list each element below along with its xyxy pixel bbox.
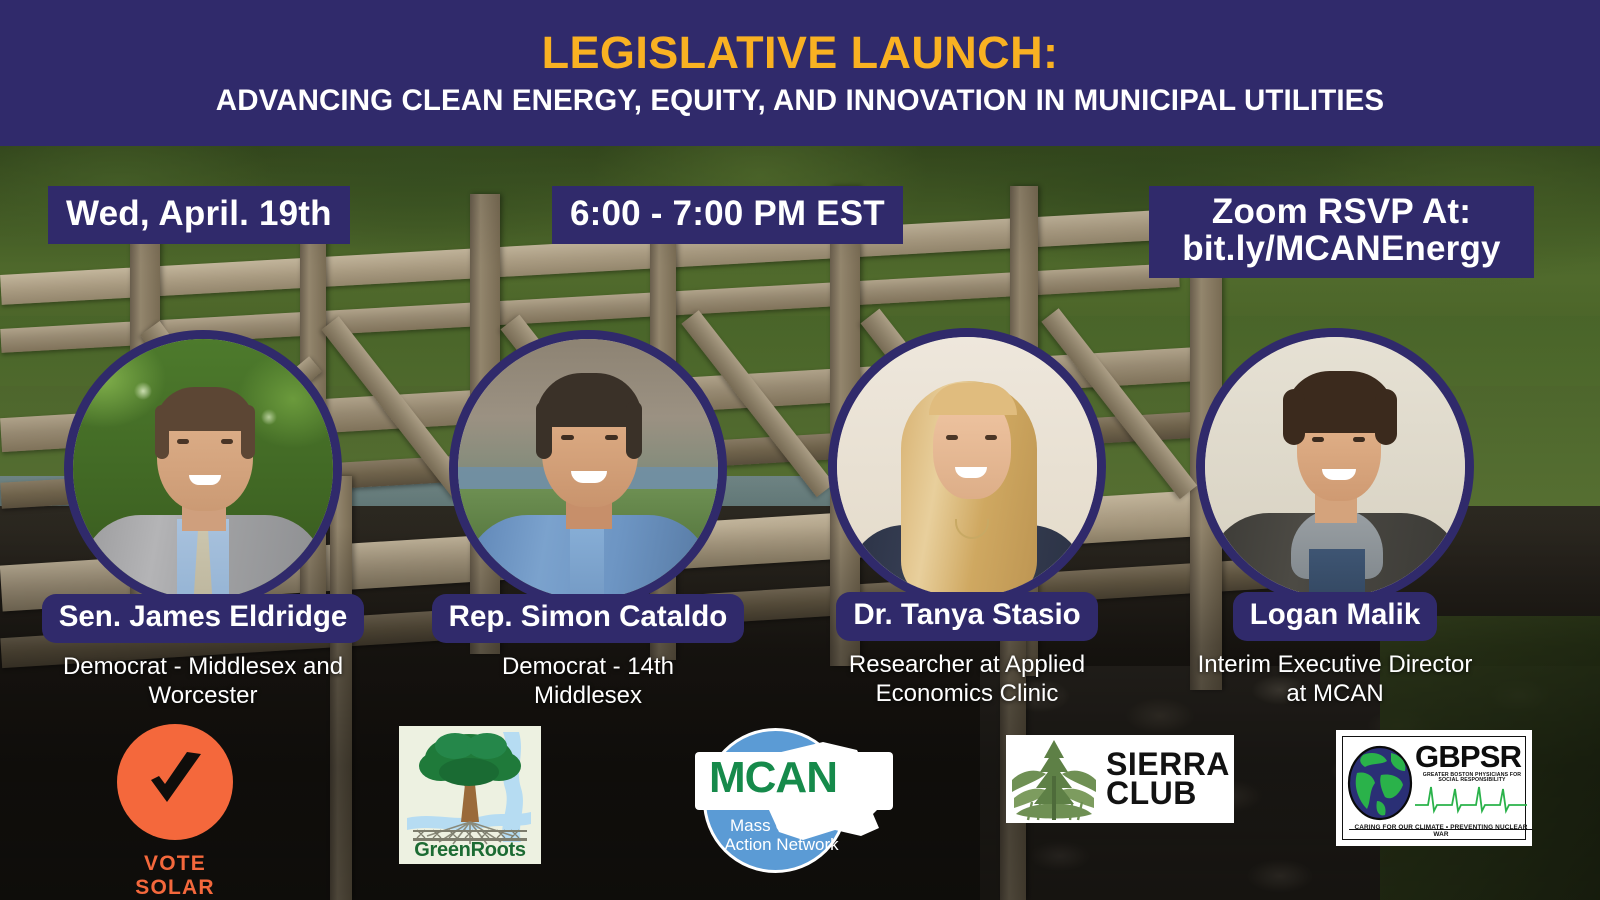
speaker-title: Interim Executive Director at MCAN [1135,650,1535,709]
speaker-name: Logan Malik [1233,592,1437,641]
photo-eye-left [177,439,189,444]
page-subtitle: ADVANCING CLEAN ENERGY, EQUITY, AND INNO… [216,86,1384,116]
event-date-banner: Wed, April. 19th [48,186,350,244]
avatar-frame [828,328,1106,606]
avatar [449,330,727,608]
sierra-club-inner: SIERRA CLUB [1006,735,1234,823]
speaker-photo-eldridge [73,339,333,599]
speaker-title-line1: Interim Executive Director [1135,650,1535,679]
speaker-title-line1: Democrat - 14th [388,652,788,681]
speaker-title-line1: Democrat - Middlesex and [3,652,403,681]
logo-gbpsr-tagline-bottom: CARING FOR OUR CLIMATE • PREVENTING NUCL… [1351,825,1531,838]
photo-eye-right [605,435,618,440]
speaker-title: Researcher at Applied Economics Clinic [767,650,1167,709]
logo-mcan-sub-line2: Action Network [709,835,854,854]
globe-icon [1347,743,1413,823]
speaker-card: Dr. Tanya Stasio Researcher at Applied E… [767,328,1167,709]
photo-eye-right [985,435,997,440]
logo-sierra-club[interactable]: SIERRA CLUB [1006,735,1234,823]
avatar [64,330,342,608]
event-flyer: LEGISLATIVE LAUNCH: ADVANCING CLEAN ENER… [0,0,1600,900]
photo-hair-right [626,401,642,459]
photo-inner-shirt [1309,549,1365,597]
checkmark-icon [115,722,235,842]
logo-vote-solar-label: VOTE SOLAR [110,852,240,900]
speaker-name: Sen. James Eldridge [42,594,365,643]
avatar [1196,328,1474,606]
logo-mcan[interactable]: MCAN Mass Climate Action Network [703,728,903,873]
logo-gbpsr-label: GBPSR [1415,741,1521,772]
avatar-frame [1196,328,1474,606]
photo-hair-left [155,405,169,459]
flyer-header: LEGISLATIVE LAUNCH: ADVANCING CLEAN ENER… [0,0,1600,146]
rsvp-label: Zoom RSVP At: [1159,193,1524,230]
logo-sierra-club-label: SIERRA CLUB [1106,750,1230,809]
logo-mcan-sublabel: Mass Climate Action Network [709,816,854,854]
speaker-title-line2: at MCAN [1135,679,1535,708]
speaker-photo-malik [1205,337,1465,597]
photo-eye-left [1312,437,1324,442]
logo-mcan-label: MCAN [709,756,859,800]
photo-hair-right [241,405,255,459]
speaker-title-line1: Researcher at Applied [767,650,1167,679]
photo-eye-right [1353,437,1365,442]
sequoia-tree-icon [1006,736,1102,822]
avatar-frame [449,330,727,608]
gbpsr-border-box: GBPSR GREATER BOSTON PHYSICIANS FOR SOCI… [1342,736,1526,840]
logo-greenroots-label: GreenRoots [399,839,541,862]
rsvp-link[interactable]: bit.ly/MCANEnergy [1159,230,1524,267]
speaker-name: Rep. Simon Cataldo [432,594,745,643]
speaker-photo-cataldo [458,339,718,599]
speaker-title: Democrat - 14th Middlesex [388,652,788,711]
speaker-list: Sen. James Eldridge Democrat - Middlesex… [0,330,1600,730]
logo-greenroots[interactable]: GreenRoots [399,726,541,864]
photo-hair-left [536,401,552,459]
vote-solar-mark [115,722,235,842]
speaker-card: Logan Malik Interim Executive Director a… [1135,328,1535,709]
speaker-card: Sen. James Eldridge Democrat - Middlesex… [3,330,403,711]
photo-eye-left [561,435,574,440]
logo-vote-solar[interactable]: VOTE SOLAR [110,722,240,900]
photo-eye-right [221,439,233,444]
event-rsvp-banner[interactable]: Zoom RSVP At: bit.ly/MCANEnergy [1149,186,1534,278]
speaker-name: Dr. Tanya Stasio [836,592,1097,641]
photo-eye-left [946,435,958,440]
ekg-line-icon [1415,781,1527,815]
logo-gbpsr[interactable]: GBPSR GREATER BOSTON PHYSICIANS FOR SOCI… [1336,730,1532,846]
speaker-card: Rep. Simon Cataldo Democrat - 14th Middl… [388,330,788,711]
page-title: LEGISLATIVE LAUNCH: [542,30,1059,75]
logo-sierra-club-line2: CLUB [1106,779,1230,808]
photo-smile [189,475,221,485]
avatar [828,328,1106,606]
speaker-title: Democrat - Middlesex and Worcester [3,652,403,711]
photo-placket [570,517,604,599]
speaker-photo-stasio [837,337,1097,597]
event-time-banner: 6:00 - 7:00 PM EST [552,186,903,244]
photo-hair-left [1283,389,1305,445]
logo-mcan-sub-line1: Mass Climate [709,816,854,835]
speaker-title-line2: Economics Clinic [767,679,1167,708]
photo-hair-right [1375,389,1397,445]
sponsor-logo-row: VOTE SOLAR [0,706,1600,900]
avatar-frame [64,330,342,608]
